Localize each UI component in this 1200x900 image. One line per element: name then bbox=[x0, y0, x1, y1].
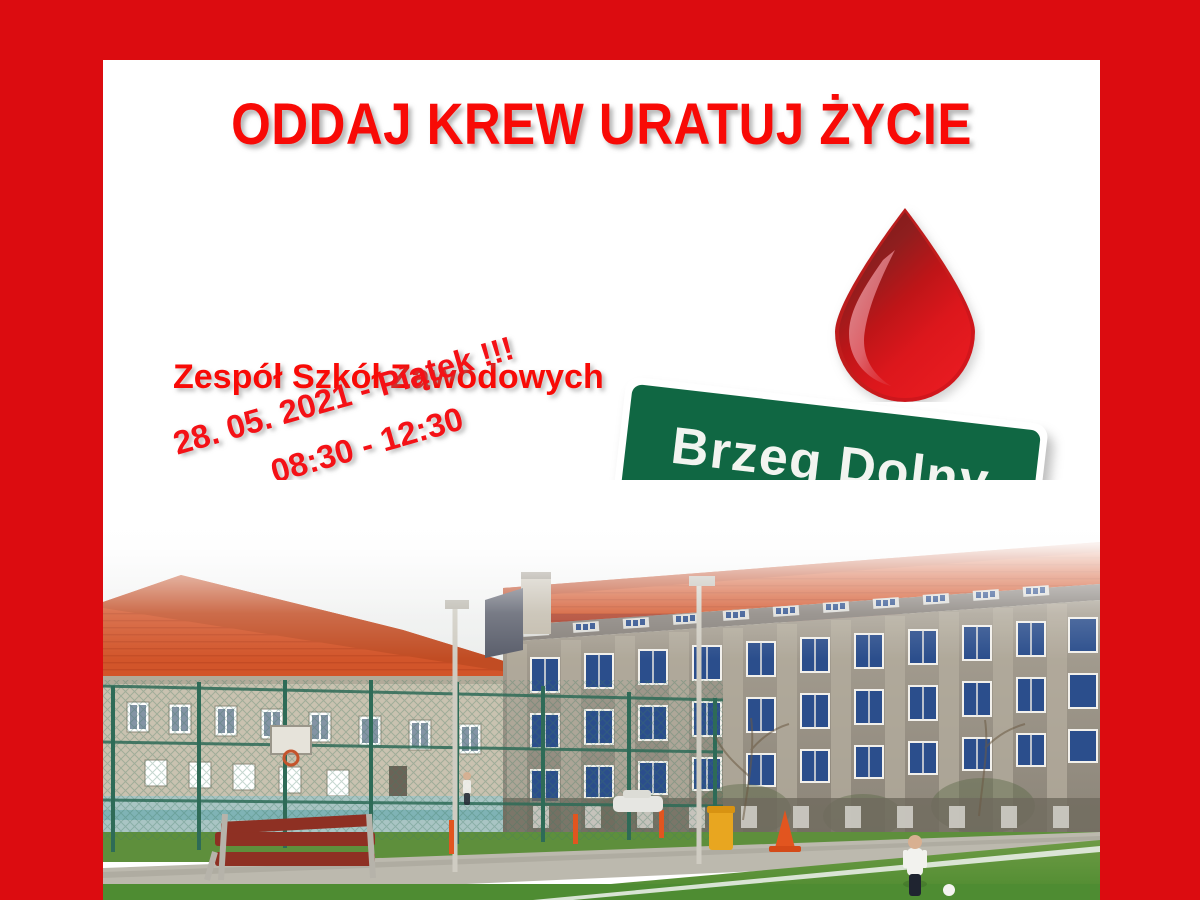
white-content-panel: ODDAJ KREW URATUJ ŻYCIE Zespół Szkół Zaw… bbox=[103, 60, 1100, 900]
blood-drop-icon bbox=[825, 202, 985, 402]
page-title: ODDAJ KREW URATUJ ŻYCIE bbox=[163, 96, 1040, 154]
poster-root: ODDAJ KREW URATUJ ŻYCIE Zespół Szkół Zaw… bbox=[0, 0, 1200, 900]
school-photo bbox=[103, 480, 1100, 900]
